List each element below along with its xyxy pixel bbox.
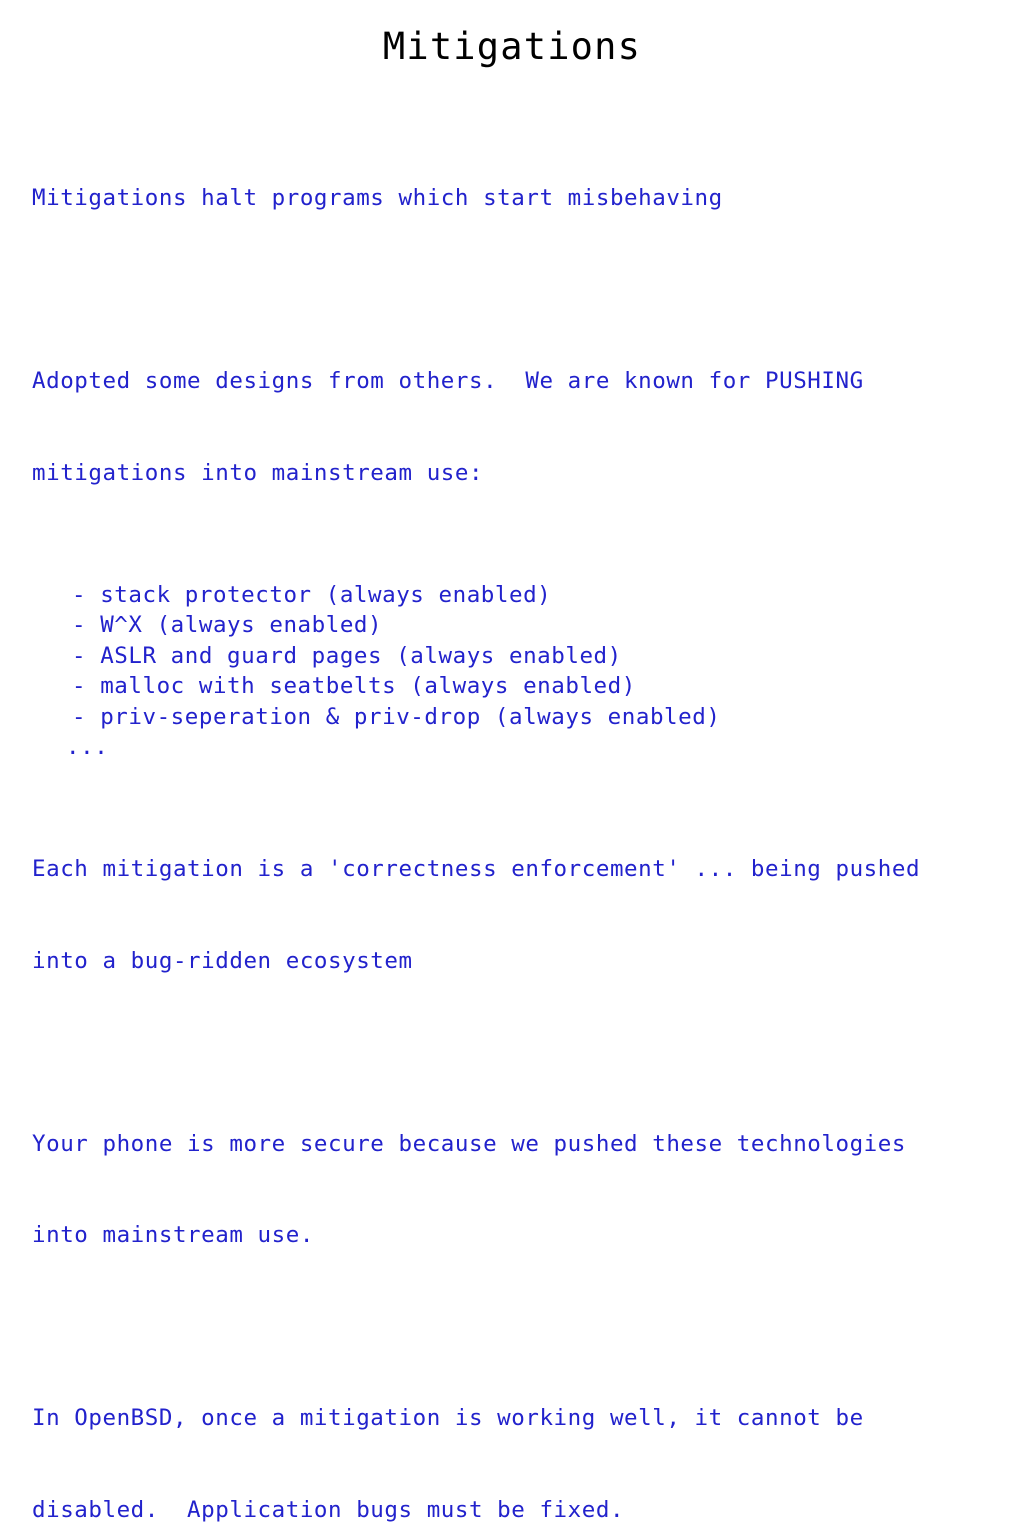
- paragraph-correctness-line-1: Each mitigation is a 'correctness enforc…: [32, 854, 992, 885]
- slide-body: Mitigations halt programs which start mi…: [32, 122, 992, 1536]
- paragraph-correctness-line-2: into a bug-ridden ecosystem: [32, 946, 992, 977]
- paragraph-adopted-line-2: mitigations into mainstream use:: [32, 458, 992, 489]
- paragraph-phone-line-1: Your phone is more secure because we pus…: [32, 1129, 992, 1160]
- paragraph-phone: Your phone is more secure because we pus…: [32, 1068, 992, 1312]
- paragraph-openbsd: In OpenBSD, once a mitigation is working…: [32, 1342, 992, 1536]
- paragraph-openbsd-line-1: In OpenBSD, once a mitigation is working…: [32, 1403, 992, 1434]
- paragraph-openbsd-line-2: disabled. Application bugs must be fixed…: [32, 1495, 992, 1526]
- paragraph-adopted-line-1: Adopted some designs from others. We are…: [32, 366, 992, 397]
- paragraph-intro: Mitigations halt programs which start mi…: [32, 122, 992, 275]
- list-item: - stack protector (always enabled): [32, 580, 992, 611]
- page-title: Mitigations: [0, 24, 1024, 70]
- mitigations-list: - stack protector (always enabled) - W^X…: [32, 580, 992, 763]
- paragraph-phone-line-2: into mainstream use.: [32, 1220, 992, 1251]
- blank-line-4: [32, 1037, 992, 1068]
- list-item: - priv-seperation & priv-drop (always en…: [32, 702, 992, 733]
- list-item: - malloc with seatbelts (always enabled): [32, 671, 992, 702]
- blank-line-5: [32, 1312, 992, 1343]
- list-item: - ASLR and guard pages (always enabled): [32, 641, 992, 672]
- blank-line-1: [32, 275, 992, 306]
- list-item: - W^X (always enabled): [32, 610, 992, 641]
- paragraph-intro-line-1: Mitigations halt programs which start mi…: [32, 183, 992, 214]
- blank-line-3: [32, 763, 992, 794]
- blank-line-2: [32, 549, 992, 580]
- paragraph-adopted: Adopted some designs from others. We are…: [32, 305, 992, 549]
- list-continuation-ellipsis: ...: [32, 732, 992, 763]
- paragraph-correctness: Each mitigation is a 'correctness enforc…: [32, 793, 992, 1037]
- slide-root: Mitigations Mitigations halt programs wh…: [0, 0, 1024, 768]
